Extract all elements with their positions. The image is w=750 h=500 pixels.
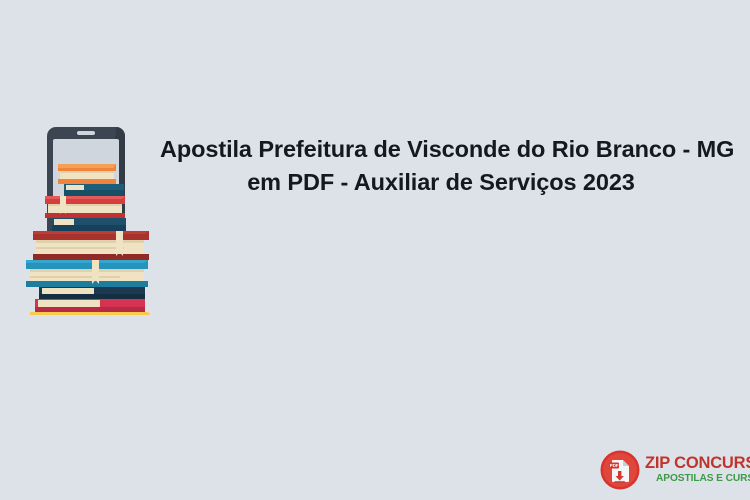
book-yellow-tilted [30, 312, 154, 315]
book-navy-2 [39, 287, 145, 299]
book-crimson [35, 299, 145, 312]
book-navy-1 [52, 218, 126, 231]
logo-subtitle: APOSTILAS E CURSOS [645, 472, 750, 485]
logo-wordmark: ZIP CONCURSOS APOSTILAS E CURSOS [645, 455, 750, 485]
svg-text:PDF: PDF [610, 463, 619, 468]
book-blue-large [26, 260, 148, 287]
product-banner: Apostila Prefeitura de Visconde do Rio B… [0, 0, 750, 500]
pdf-download-icon: PDF [600, 450, 640, 490]
book-red-1 [45, 196, 125, 218]
page-title: Apostila Prefeitura de Visconde do Rio B… [160, 133, 722, 199]
brand-logo[interactable]: PDF ZIP CONCURSOS APOSTILAS E CURSOS [600, 448, 746, 492]
logo-title: ZIP CONCURSOS [645, 455, 750, 472]
book-darkteal-1 [64, 184, 124, 196]
stack-of-books-illustration [8, 125, 173, 315]
title-line-2: em PDF - Auxiliar de Serviços 2023 [160, 166, 722, 199]
title-line-1: Apostila Prefeitura de Visconde do Rio B… [160, 133, 722, 166]
book-orange-top [58, 164, 116, 184]
book-maroon-large [33, 231, 149, 260]
